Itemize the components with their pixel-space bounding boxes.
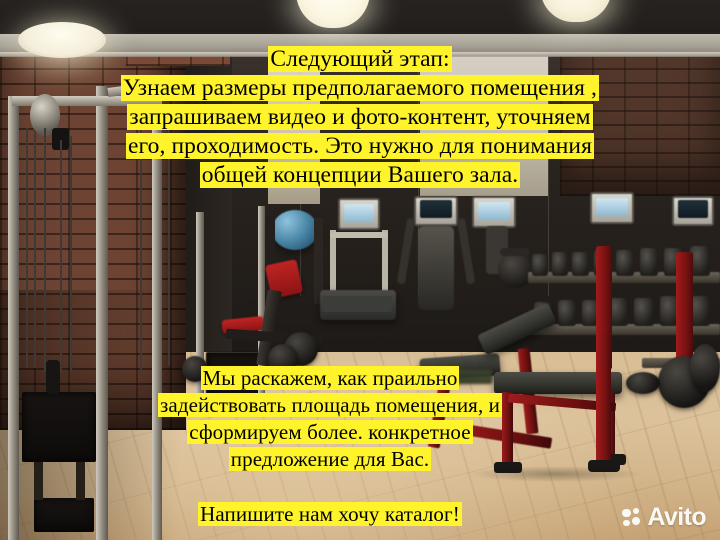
overlay-cta-line: Напишите нам хочу каталог! bbox=[0, 503, 660, 525]
overlay-line: Узнаем размеры предполагаемого помещения… bbox=[0, 76, 720, 101]
avito-watermark: Avito bbox=[622, 505, 706, 530]
poster-image: Следующий этап: Узнаем размеры предполаг… bbox=[0, 0, 720, 540]
overlay-line: Следующий этап: bbox=[0, 47, 720, 72]
overlay-line: сформируем более. конкретное bbox=[0, 421, 660, 443]
overlay-line: Мы раскажем, как праильно bbox=[0, 367, 660, 389]
overlay-line: запрашиваем видео и фото-контент, уточня… bbox=[0, 105, 720, 130]
avito-logo-icon bbox=[622, 508, 642, 528]
overlay-line: общей концепции Вашего зала. bbox=[0, 163, 720, 188]
text-overlay: Следующий этап: Узнаем размеры предполаг… bbox=[0, 0, 720, 540]
overlay-line: его, проходимость. Это нужно для пониман… bbox=[0, 134, 720, 159]
overlay-line: задействовать площадь помещения, и bbox=[0, 394, 660, 416]
avito-wordmark: Avito bbox=[647, 505, 706, 530]
overlay-line: предложение для Вас. bbox=[0, 448, 660, 470]
